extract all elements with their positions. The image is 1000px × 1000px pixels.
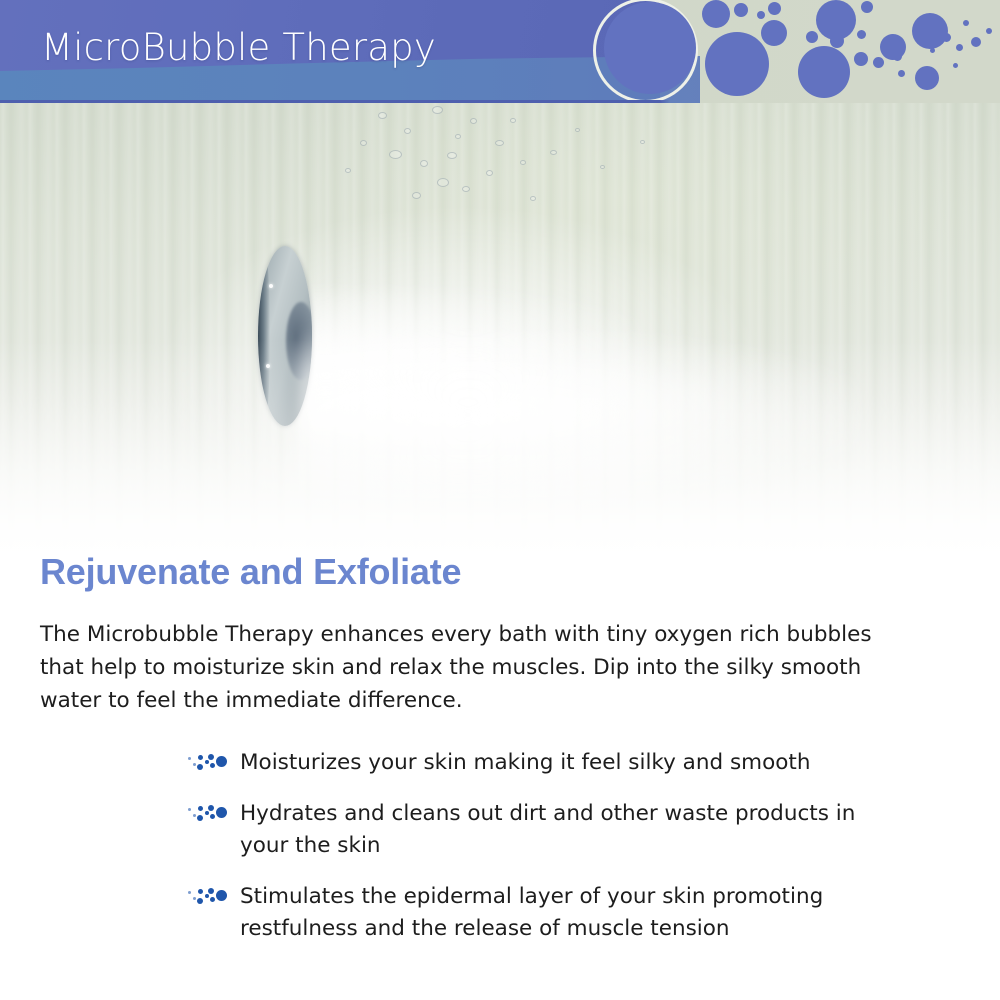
product-feature-page: MicroBubble Therapy Rejuvenate and Exfol… [0, 0, 1000, 1000]
header-bubble [768, 2, 781, 15]
header-bubble [604, 2, 696, 94]
bubble-cluster-bullet-icon [188, 804, 232, 824]
header-bubble [798, 46, 850, 98]
header-bubble [873, 57, 884, 68]
header-bubble [806, 31, 818, 43]
header-bubble [956, 44, 963, 51]
bubble-cluster-bullet-icon [188, 753, 232, 773]
header-bubble [953, 63, 958, 68]
list-item-text: Hydrates and cleans out dirt and other w… [240, 801, 855, 858]
header-bubble [971, 37, 981, 47]
content-section: Rejuvenate and Exfoliate The Microbubble… [0, 552, 1000, 964]
header-bubble [761, 20, 787, 46]
header-bubble [757, 11, 765, 19]
header-bubble [942, 33, 951, 42]
header-bottom-rule [0, 100, 1000, 103]
benefits-list: Moisturizes your skin making it feel sil… [0, 747, 1000, 945]
list-item: Hydrates and cleans out dirt and other w… [240, 798, 900, 862]
header-bubble [912, 13, 948, 49]
header-bubble [986, 28, 992, 34]
header-bubble [734, 3, 748, 17]
nozzle-glint-icon [269, 284, 273, 288]
header-bubble [915, 66, 939, 90]
header-bubble [857, 30, 866, 39]
header-bubble [930, 48, 935, 53]
header-bubble [830, 34, 844, 48]
header-bubble [702, 0, 730, 28]
list-item: Moisturizes your skin making it feel sil… [240, 747, 900, 779]
intro-paragraph: The Microbubble Therapy enhances every b… [40, 618, 910, 717]
section-heading: Rejuvenate and Exfoliate [40, 552, 1000, 592]
list-item-text: Stimulates the epidermal layer of your s… [240, 884, 823, 941]
list-item-text: Moisturizes your skin making it feel sil… [240, 750, 810, 775]
header-bubble [898, 70, 905, 77]
page-header: MicroBubble Therapy [0, 0, 1000, 103]
header-bubble [963, 20, 969, 26]
list-item: Stimulates the epidermal layer of your s… [240, 881, 900, 945]
header-bubble [854, 52, 868, 66]
header-bubble [893, 52, 902, 61]
page-title: MicroBubble Therapy [41, 26, 436, 69]
bubble-cluster-bullet-icon [188, 887, 232, 907]
header-bubble [705, 32, 769, 96]
header-bubble [861, 1, 873, 13]
